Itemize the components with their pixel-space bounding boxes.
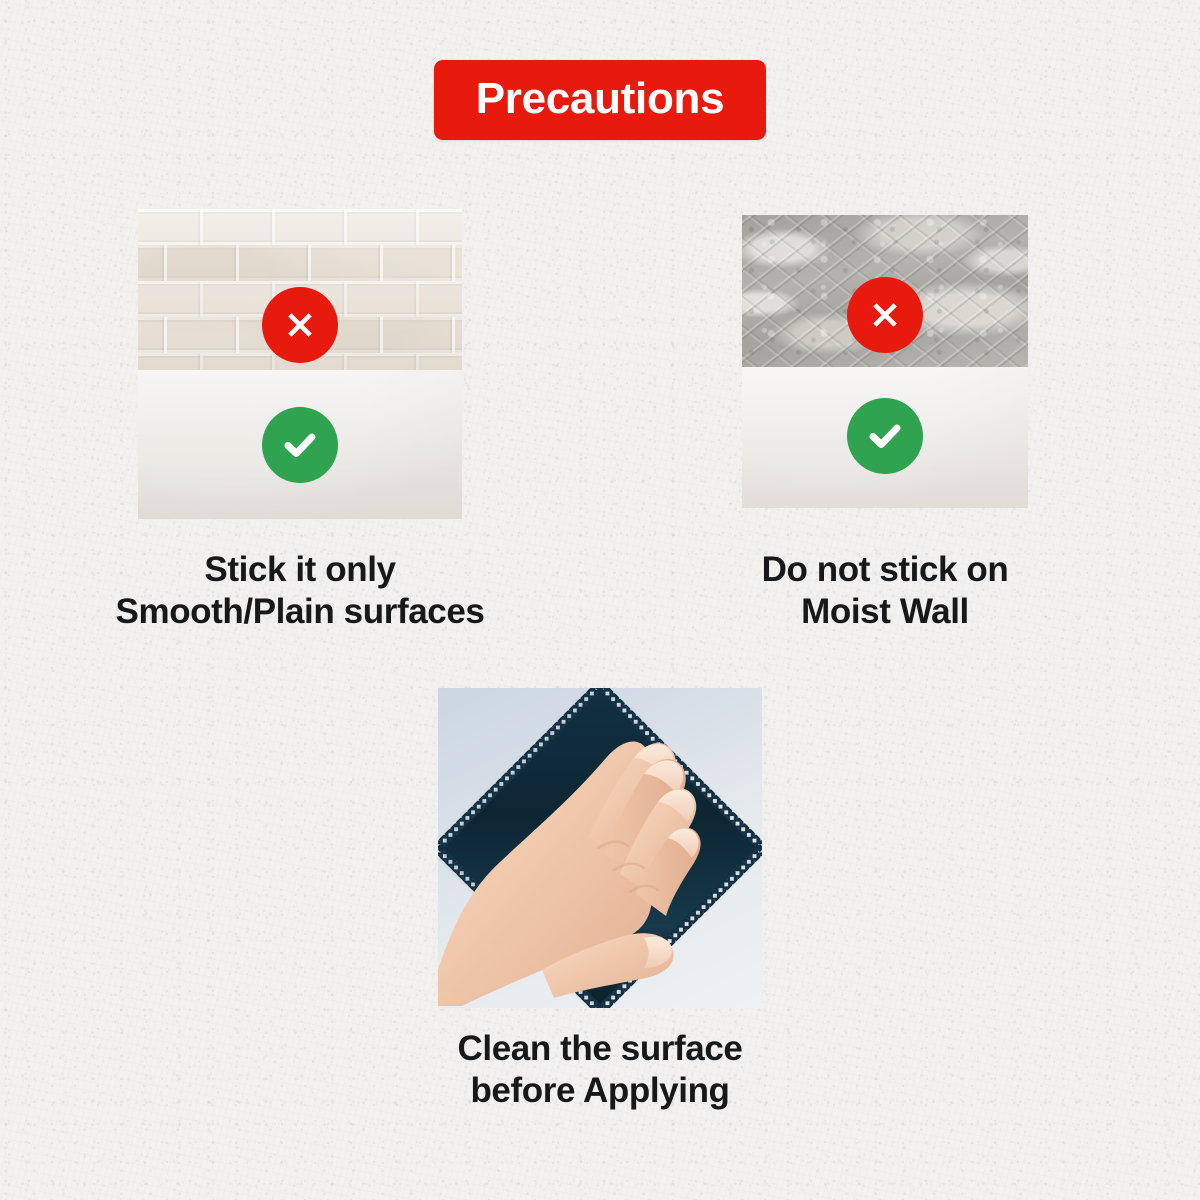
page-title: Precautions <box>476 74 725 123</box>
precaution-image-smooth-surfaces <box>138 209 462 519</box>
green-check-icon <box>262 407 338 483</box>
caption-line: before Applying <box>300 1070 900 1112</box>
precaution-image-moist-wall <box>742 215 1028 508</box>
header-banner-wrap: Precautions <box>0 60 1200 140</box>
header-banner: Precautions <box>434 60 766 140</box>
precautions-infographic: Precautions Stick it only Smooth/Plain <box>0 0 1200 1200</box>
red-cross-icon <box>847 277 923 353</box>
precaution-card-moist-wall <box>742 215 1028 508</box>
precaution-card-clean-surface <box>438 688 762 1008</box>
caption-line: Moist Wall <box>605 591 1165 633</box>
caption-line: Smooth/Plain surfaces <box>0 591 600 633</box>
caption-line: Do not stick on <box>605 549 1165 591</box>
caption-moist-wall: Do not stick on Moist Wall <box>605 549 1165 633</box>
precaution-image-clean-surface <box>438 688 762 1008</box>
caption-clean-surface: Clean the surface before Applying <box>300 1028 900 1112</box>
green-check-icon <box>847 398 923 474</box>
caption-line: Clean the surface <box>300 1028 900 1070</box>
caption-line: Stick it only <box>0 549 600 591</box>
caption-smooth-surfaces: Stick it only Smooth/Plain surfaces <box>0 549 600 633</box>
hand-illustration <box>438 688 762 1008</box>
precaution-card-smooth-surfaces <box>138 209 462 519</box>
red-cross-icon <box>262 287 338 363</box>
